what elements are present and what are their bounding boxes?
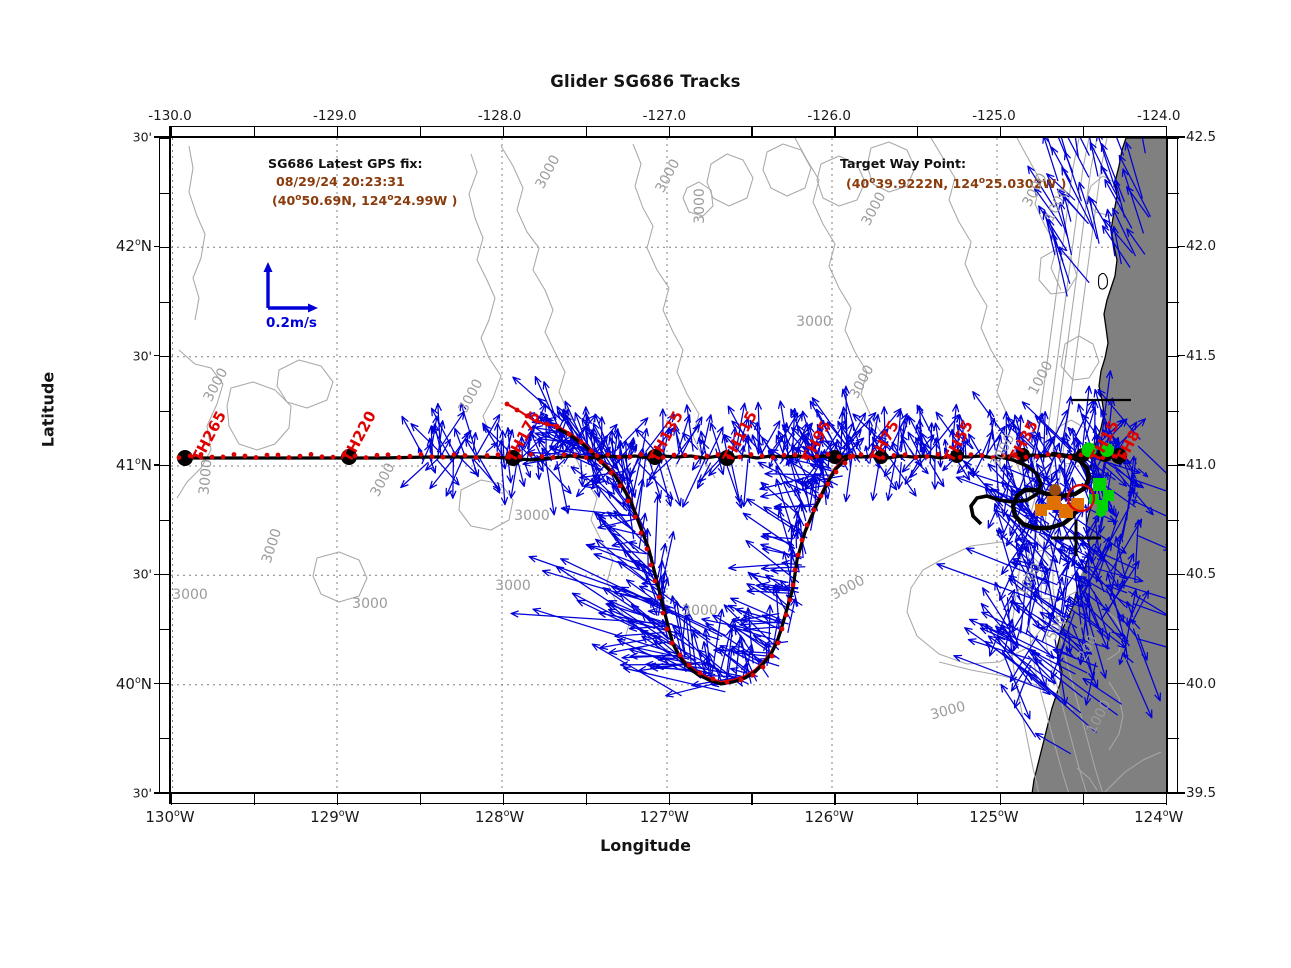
- gps-fix-annotation: SG686 Latest GPS fix: 08/29/24 20:23:31 …: [268, 155, 457, 210]
- ruler-tick: [503, 794, 504, 805]
- gps-fix-dot: [254, 455, 259, 460]
- current-vector: [401, 462, 428, 487]
- ruler-tick: [586, 794, 587, 805]
- gps-fix-dot: [782, 453, 787, 458]
- gps-lat-deg: (40: [272, 193, 295, 208]
- gps-fix-dot: [725, 680, 730, 685]
- ruler-tick: [1168, 792, 1179, 793]
- gps-fix-dot: [397, 455, 402, 460]
- gps-fix-dot: [805, 523, 810, 528]
- gps-fix-dot: [386, 452, 391, 457]
- gps-fix-dot: [687, 663, 692, 668]
- gps-fix-dot: [589, 449, 594, 454]
- top-tick-label: -125.0: [972, 108, 1016, 124]
- gps-fix-dot: [819, 494, 824, 499]
- bottom-tick-label: 124oW: [1134, 808, 1183, 826]
- gps-fix-dot: [784, 613, 789, 618]
- gps-fix-dot: [914, 455, 919, 460]
- ruler-tick: [254, 794, 255, 805]
- gps-fix-dot: [678, 653, 683, 658]
- gps-fix-dot: [265, 453, 270, 458]
- bottom-tick-label: 126oW: [805, 808, 854, 826]
- ruler-tick: [751, 794, 752, 805]
- gps-fix-dot: [364, 455, 369, 460]
- current-vector: [659, 463, 672, 506]
- gps-fix-dot: [375, 453, 380, 458]
- ruler-tick: [834, 794, 835, 805]
- gps-fix-dot: [505, 402, 510, 407]
- ruler-tick: [337, 794, 338, 805]
- gps-lon-deg: 124: [361, 193, 387, 208]
- gps-fix-dot: [851, 454, 856, 459]
- gps-fix-dot: [834, 470, 839, 475]
- map-canvas: [171, 138, 1167, 793]
- contour-label-3000: 3000: [196, 459, 215, 496]
- gps-fix-dot: [331, 455, 336, 460]
- gps-fix-dot: [408, 454, 413, 459]
- gps-fix-dot: [529, 452, 534, 457]
- gps-fix-dot: [800, 538, 805, 543]
- ruler-tick: [917, 794, 918, 805]
- gps-fix-dot: [694, 455, 699, 460]
- ruler-tick: [420, 794, 421, 805]
- gps-fix-dot: [1035, 454, 1040, 459]
- bottom-tick-label: 130oW: [145, 808, 194, 826]
- gps-fix-dot: [791, 583, 796, 588]
- island-shape: [1099, 273, 1108, 289]
- contour-label-3000: 3000: [682, 603, 718, 619]
- gps-fix-dot: [298, 454, 303, 459]
- top-tick-label: -128.0: [478, 108, 522, 124]
- right-tick-label: 40.5: [1186, 566, 1216, 582]
- gps-fix-dot: [540, 454, 545, 459]
- gps-fix-dot: [698, 671, 703, 676]
- gps-fix-dot: [463, 453, 468, 458]
- ruler-tick: [1000, 794, 1001, 805]
- current-vector: [692, 451, 705, 470]
- gps-fix-dot: [788, 598, 793, 603]
- gps-fix-dot: [653, 579, 658, 584]
- gps-fix-dot: [595, 453, 600, 458]
- gps-fix-dot: [626, 499, 631, 504]
- gps-fix-dot: [545, 422, 550, 427]
- top-tick-label: -127.0: [643, 108, 687, 124]
- ruler-tick: [1168, 738, 1179, 739]
- right-axis-ruler: [1167, 137, 1178, 793]
- left-tick-label: 30': [133, 567, 152, 582]
- waypoint-heading: Target Way Point:: [840, 155, 1066, 173]
- gps-fix-dot: [579, 440, 584, 445]
- gps-fix-dot: [859, 452, 864, 457]
- gps-fix-dot: [485, 453, 490, 458]
- velocity-scale-label: 0.2m/s: [266, 315, 317, 331]
- gps-fix-dot: [618, 484, 623, 489]
- gps-fix-dot: [515, 408, 520, 413]
- gps-fix-dot: [796, 553, 801, 558]
- current-vector: [655, 495, 661, 563]
- gps-fix-dot: [670, 641, 675, 646]
- ruler-tick: [1168, 193, 1179, 194]
- gps-fix-dot: [793, 568, 798, 573]
- gps-fix-dot: [739, 678, 744, 683]
- gps-fix-dot: [1057, 454, 1062, 459]
- right-tick-label: 39.5: [1186, 785, 1216, 801]
- left-tick-label: 30': [133, 786, 152, 801]
- current-vector: [402, 416, 424, 457]
- gps-fix-dot: [232, 452, 237, 457]
- ruler-tick: [1168, 411, 1179, 412]
- contour-label-3000: 3000: [514, 508, 550, 524]
- gps-fix-dot: [452, 452, 457, 457]
- gps-fix-dot: [665, 627, 670, 632]
- gps-lat-min: 50.69N,: [301, 193, 356, 208]
- current-vector: [743, 513, 794, 548]
- gps-fix-dot: [980, 453, 985, 458]
- contour-label-3000: 3000: [692, 188, 708, 224]
- gps-fix-dot: [221, 455, 226, 460]
- gps-fix-dot: [496, 452, 501, 457]
- top-axis-ruler: [170, 126, 1167, 137]
- page-title: Glider SG686 Tracks: [0, 72, 1291, 91]
- gps-fix-dot: [639, 531, 644, 536]
- left-tick-label: 40oN: [116, 675, 152, 693]
- gps-fix-dot: [903, 452, 908, 457]
- gps-fix-dot: [633, 515, 638, 520]
- gps-fix-dot: [672, 453, 677, 458]
- gps-fix-dot: [1068, 455, 1073, 460]
- bottom-tick-label: 129oW: [310, 808, 359, 826]
- gps-fix-dot: [599, 460, 604, 465]
- current-vector: [1059, 138, 1089, 155]
- gps-fix-dot: [760, 454, 765, 459]
- ruler-tick: [1168, 574, 1179, 575]
- gps-fix-dot: [771, 455, 776, 460]
- gps-fix-dot: [837, 454, 842, 459]
- y-axis-label: Latitude: [39, 320, 58, 500]
- bottom-tick-label: 127oW: [640, 808, 689, 826]
- gps-fix-dot: [770, 654, 775, 659]
- current-vector: [1039, 138, 1052, 152]
- gps-fix-dot: [892, 453, 897, 458]
- x-axis-label: Longitude: [0, 836, 1291, 855]
- right-tick-label: 41.5: [1186, 348, 1216, 364]
- gps-fix-dot: [969, 452, 974, 457]
- gps-fix-dot: [276, 453, 281, 458]
- current-vector: [729, 564, 786, 571]
- gps-fix-dot: [309, 452, 314, 457]
- gps-fix-dot: [826, 482, 831, 487]
- right-tick-label: 42.0: [1186, 238, 1216, 254]
- gps-fix-dot: [749, 452, 754, 457]
- top-tick-label: -129.0: [313, 108, 357, 124]
- ruler-tick: [1168, 520, 1179, 521]
- gps-fix-dot: [617, 455, 622, 460]
- current-vector: [518, 462, 525, 486]
- gps-fix-dot: [711, 677, 716, 682]
- right-tick-label: 41.0: [1186, 457, 1216, 473]
- wp-lat-min: 39.9222N,: [875, 176, 948, 191]
- gps-fix-dot: [573, 453, 578, 458]
- ruler-tick: [1168, 356, 1179, 357]
- gps-fix-timestamp: 08/29/24 20:23:31: [268, 173, 457, 191]
- current-vector: [437, 460, 459, 485]
- gps-fix-dot: [639, 452, 644, 457]
- gps-fix-dot: [826, 452, 831, 457]
- gps-fix-dot: [780, 627, 785, 632]
- gps-fix-dot: [562, 452, 567, 457]
- bottom-tick-label: 125oW: [969, 808, 1018, 826]
- ruler-tick: [1168, 465, 1179, 466]
- gps-fix-dot: [419, 452, 424, 457]
- left-axis-ruler: [159, 137, 170, 793]
- right-tick-label: 40.0: [1186, 676, 1216, 692]
- gps-fix-dot: [584, 455, 589, 460]
- gps-fix-dot: [555, 424, 560, 429]
- current-vector: [554, 460, 564, 470]
- gps-fix-dot: [657, 595, 662, 600]
- gps-fix-dot: [177, 455, 182, 460]
- ruler-tick: [1083, 794, 1084, 805]
- gps-fix-dot: [705, 454, 710, 459]
- gps-fix-dot: [761, 665, 766, 670]
- gps-fix-dot: [320, 454, 325, 459]
- left-tick-label: 41oN: [116, 456, 152, 474]
- gps-fix-dot: [551, 455, 556, 460]
- gps-fix-dot: [649, 563, 654, 568]
- wp-lon-deg: 124: [953, 176, 979, 191]
- bottom-tick-label: 128oW: [475, 808, 524, 826]
- gps-fix-dot: [683, 453, 688, 458]
- ruler-tick: [669, 794, 670, 805]
- gps-fix-dot: [843, 461, 848, 466]
- top-tick-label: -124.0: [1137, 108, 1181, 124]
- gps-fix-heading: SG686 Latest GPS fix:: [268, 155, 457, 173]
- gps-fix-dot: [793, 453, 798, 458]
- gps-fix-dot: [474, 455, 479, 460]
- wp-lat-deg: (40: [846, 176, 869, 191]
- gps-fix-position: (40o50.69N, 124o24.99W ): [268, 190, 457, 210]
- left-tick-label: 30': [133, 130, 152, 145]
- current-vector: [442, 440, 450, 455]
- gps-fix-dot: [925, 454, 930, 459]
- ruler-tick: [1166, 794, 1167, 805]
- ruler-tick: [1168, 683, 1179, 684]
- gps-fix-dot: [1046, 452, 1051, 457]
- gps-fix-dot: [661, 611, 666, 616]
- current-vector: [954, 656, 1046, 691]
- left-tick-label: 42oN: [116, 237, 152, 255]
- ruler-tick: [1168, 247, 1179, 248]
- ruler-tick: [1168, 138, 1179, 139]
- right-tick-label: 42.5: [1186, 129, 1216, 145]
- ruler-tick: [1168, 629, 1179, 630]
- gps-fix-dot: [287, 455, 292, 460]
- gps-lon-min: 24.99W ): [394, 193, 458, 208]
- top-tick-label: -130.0: [148, 108, 192, 124]
- contour-label-3000: 3000: [352, 596, 388, 612]
- ruler-tick: [1168, 302, 1179, 303]
- gps-fix-dot: [430, 454, 435, 459]
- gps-fix-dot: [609, 471, 614, 476]
- map-plot-area[interactable]: [170, 137, 1167, 793]
- contour-label-3000: 3000: [796, 314, 832, 330]
- bottom-axis-ruler: [170, 793, 1167, 804]
- gps-fix-dot: [243, 454, 248, 459]
- gps-fix-dot: [776, 641, 781, 646]
- gps-fix-dot: [751, 673, 756, 678]
- left-tick-label: 30': [133, 348, 152, 363]
- contour-label-3000: 3000: [172, 587, 208, 603]
- gps-fix-dot: [812, 508, 817, 513]
- contour-label-3000: 3000: [495, 578, 531, 594]
- ruler-tick: [171, 794, 172, 805]
- current-vector: [747, 499, 807, 538]
- gps-fix-dot: [645, 547, 650, 552]
- gps-fix-dot: [628, 454, 633, 459]
- gps-fix-dot: [606, 452, 611, 457]
- current-vector: [429, 457, 435, 473]
- gps-fix-dot: [567, 432, 572, 437]
- current-vector: [557, 462, 570, 514]
- top-tick-label: -126.0: [807, 108, 851, 124]
- gps-fix-dot: [441, 455, 446, 460]
- velocity-scale-arrows: [258, 258, 328, 318]
